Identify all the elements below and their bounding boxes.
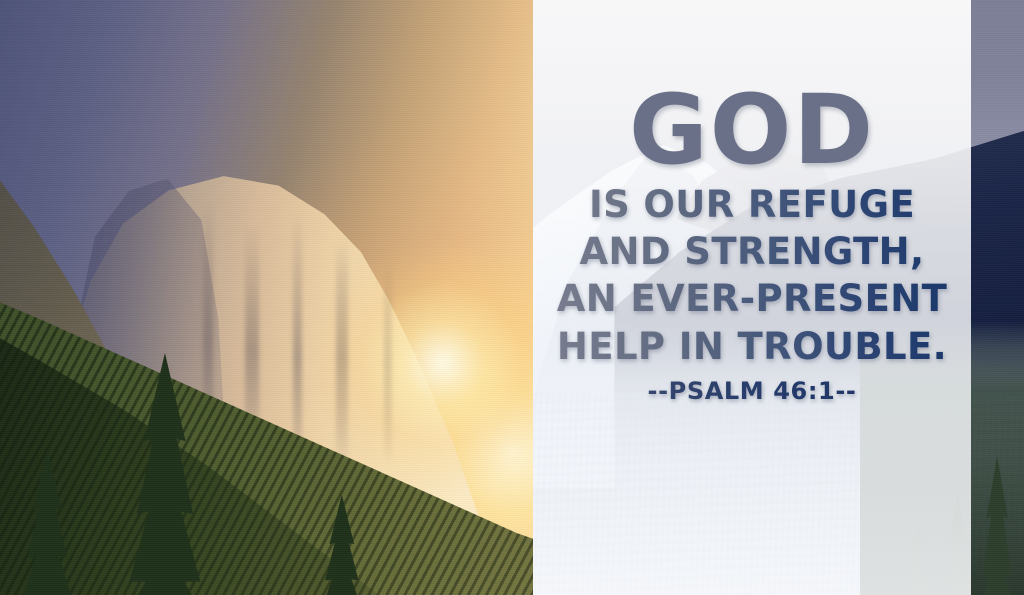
- page-title: GOD: [541, 84, 963, 176]
- verse-block: GOD IS OUR REFUGE AND STRENGTH, AN EVER-…: [533, 84, 971, 405]
- verse-line-2: AND STRENGTH,: [541, 229, 963, 274]
- verse-line-3: AN EVER-PRESENT: [541, 276, 963, 321]
- sun-glow: [320, 226, 533, 500]
- verse-text-panel: GOD IS OUR REFUGE AND STRENGTH, AN EVER-…: [533, 0, 971, 595]
- background-photo-granite-cliff: [0, 0, 533, 595]
- verse-attribution: --PSALM 46:1--: [541, 377, 963, 405]
- scripture-verse-card: GOD IS OUR REFUGE AND STRENGTH, AN EVER-…: [0, 0, 1024, 595]
- tree-shape: [980, 456, 1014, 595]
- verse-line-1: IS OUR REFUGE: [541, 182, 963, 227]
- verse-line-4: HELP IN TROUBLE.: [541, 324, 963, 369]
